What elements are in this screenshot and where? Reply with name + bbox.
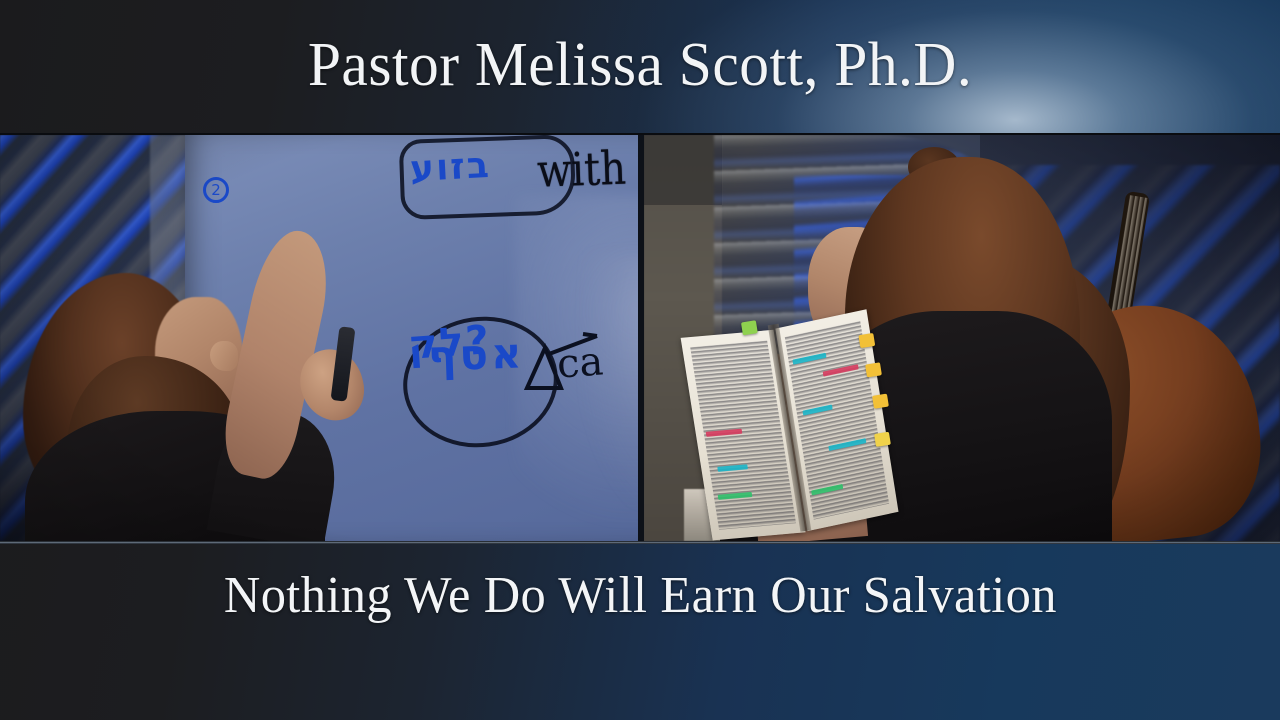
right-video-pane — [644, 135, 1280, 541]
page-title: Pastor Melissa Scott, Ph.D. — [308, 34, 972, 102]
bible-index-tab — [872, 394, 889, 409]
open-bible — [681, 311, 901, 541]
left-speaker-profile — [210, 341, 238, 371]
whiteboard-circled-number: 2 — [203, 177, 229, 203]
media-band: 2 בזוע לק? אסף םחתנ with his (ponim) ca — [0, 135, 1280, 541]
left-video-pane: 2 בזוע לק? אסף םחתנ with his (ponim) ca — [0, 135, 638, 541]
bible-index-tab — [874, 432, 891, 447]
header-bar: Pastor Melissa Scott, Ph.D. — [0, 0, 1280, 135]
left-speaker-figure — [5, 231, 305, 541]
media-bottom-divider — [0, 541, 1280, 544]
whiteboard-english-note: with his (ponim) — [536, 135, 638, 198]
right-pane-wall-shadow — [644, 135, 722, 205]
bible-index-tab — [741, 320, 758, 335]
whiteboard-hebrew-top: בזוע — [409, 145, 492, 190]
bible-index-tab — [858, 333, 875, 348]
broadcast-lower-third-slide: Pastor Melissa Scott, Ph.D. 2 בזוע לק? א… — [0, 0, 1280, 720]
sermon-title: Nothing We Do Will Earn Our Salvation — [224, 566, 1057, 625]
footer-bar: Nothing We Do Will Earn Our Salvation — [0, 544, 1280, 720]
media-top-divider — [0, 133, 1280, 135]
bible-index-tab — [865, 362, 882, 377]
whiteboard-marker-letters: ca — [555, 338, 604, 387]
